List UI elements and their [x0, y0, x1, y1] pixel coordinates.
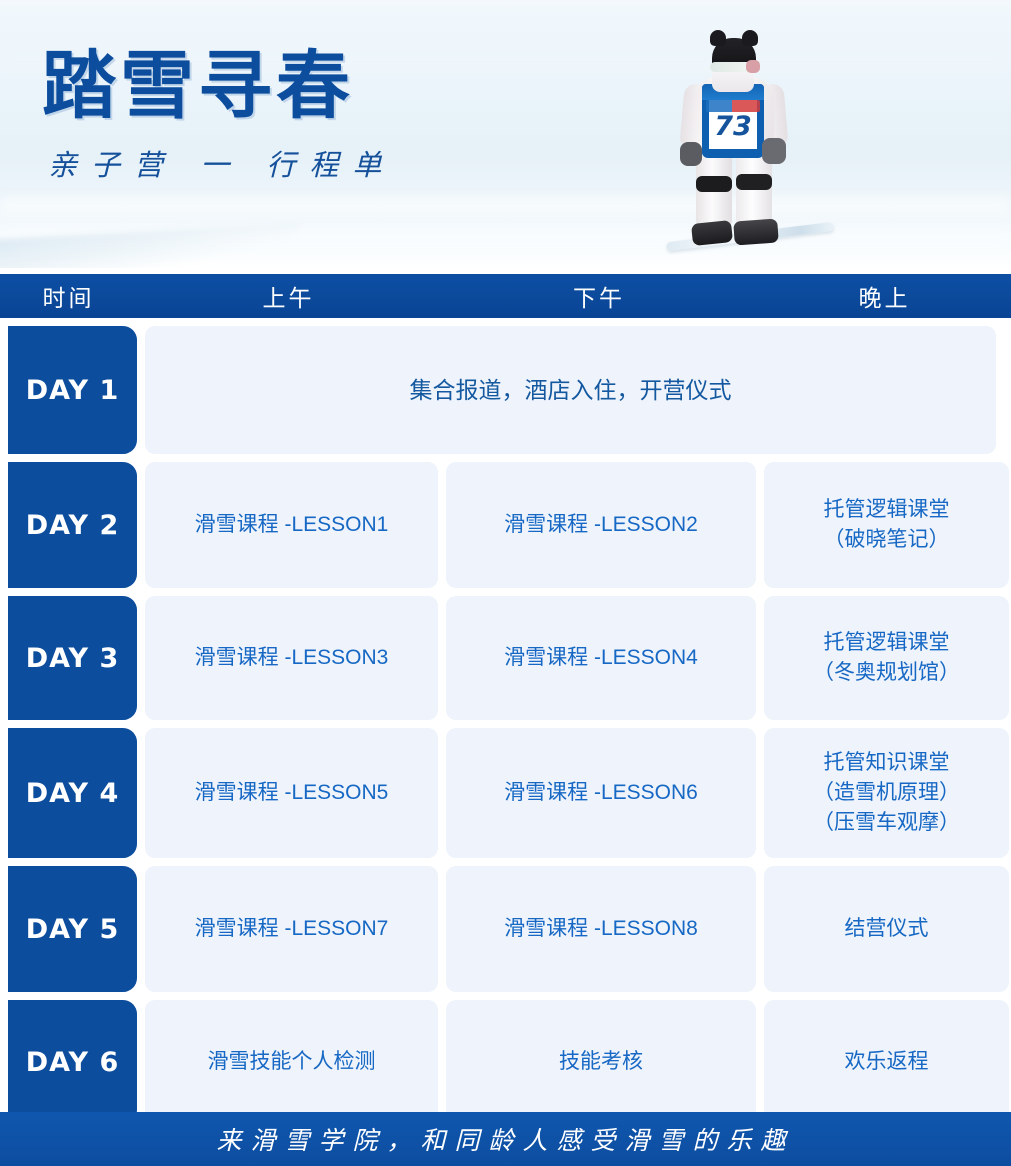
- table-row: DAY 3 滑雪课程 -LESSON3 滑雪课程 -LESSON4 托管逻辑课堂…: [8, 596, 1003, 720]
- column-header-evening: 晚上: [758, 279, 1011, 313]
- day-label: DAY 4: [8, 728, 137, 858]
- cell-afternoon: 技能考核: [446, 1000, 756, 1124]
- day-label: DAY 5: [8, 866, 137, 992]
- schedule-table-body: DAY 1 集合报道，酒店入住，开营仪式 DAY 2 滑雪课程 -LESSON1…: [0, 318, 1011, 1132]
- cell-afternoon: 滑雪课程 -LESSON4: [446, 596, 756, 720]
- table-row: DAY 2 滑雪课程 -LESSON1 滑雪课程 -LESSON2 托管逻辑课堂…: [8, 462, 1003, 588]
- hero-banner: 踏雪寻春 亲子营 一 行程单 73: [0, 0, 1011, 268]
- goggles-lens-shape: [746, 60, 760, 73]
- page-subtitle: 亲子营 一 行程单: [48, 148, 395, 182]
- day-label: DAY 3: [8, 596, 137, 720]
- cell-afternoon: 滑雪课程 -LESSON2: [446, 462, 756, 588]
- right-glove-shape: [762, 138, 786, 164]
- cell-evening: 结营仪式: [764, 866, 1009, 992]
- table-row: DAY 6 滑雪技能个人检测 技能考核 欢乐返程: [8, 1000, 1003, 1124]
- cell-afternoon: 滑雪课程 -LESSON6: [446, 728, 756, 858]
- cell-evening: 托管知识课堂（造雪机原理）（压雪车观摩）: [764, 728, 1009, 858]
- cell-morning: 滑雪课程 -LESSON5: [145, 728, 438, 858]
- beanie-left-ear-shape: [710, 30, 726, 46]
- snow-band-decoration: [0, 228, 1011, 244]
- hero-text-block: 踏雪寻春 亲子营 一 行程单: [42, 44, 395, 182]
- day-label: DAY 1: [8, 326, 137, 454]
- cell-morning: 滑雪课程 -LESSON1: [145, 462, 438, 588]
- cell-morning: 滑雪课程 -LESSON3: [145, 596, 438, 720]
- right-boot-shape: [733, 218, 779, 245]
- cell-morning: 滑雪技能个人检测: [145, 1000, 438, 1124]
- left-boot-shape: [691, 220, 733, 246]
- day-label: DAY 2: [8, 462, 137, 588]
- footer-slogan: 来滑雪学院，和同龄人感受滑雪的乐趣: [216, 1121, 794, 1157]
- itinerary-poster: 踏雪寻春 亲子营 一 行程单 73: [0, 0, 1011, 1166]
- day-label: DAY 6: [8, 1000, 137, 1124]
- cell-morning: 滑雪课程 -LESSON7: [145, 866, 438, 992]
- footer-banner: 来滑雪学院，和同龄人感受滑雪的乐趣: [0, 1112, 1011, 1166]
- right-knee-pad-shape: [736, 174, 772, 190]
- table-row: DAY 4 滑雪课程 -LESSON5 滑雪课程 -LESSON6 托管知识课堂…: [8, 728, 1003, 858]
- table-row: DAY 1 集合报道，酒店入住，开营仪式: [8, 326, 1003, 454]
- column-header-time: 时间: [0, 279, 137, 313]
- cell-evening: 托管逻辑课堂（冬奥规划馆）: [764, 596, 1009, 720]
- table-row: DAY 5 滑雪课程 -LESSON7 滑雪课程 -LESSON8 结营仪式: [8, 866, 1003, 992]
- cell-evening: 欢乐返程: [764, 1000, 1009, 1124]
- cell-afternoon: 滑雪课程 -LESSON8: [446, 866, 756, 992]
- left-glove-shape: [680, 142, 702, 166]
- cell-evening: 托管逻辑课堂（破晓笔记）: [764, 462, 1009, 588]
- snow-band-decoration: [0, 196, 1011, 216]
- child-snowboarder-photo: 73: [672, 18, 802, 254]
- column-header-afternoon: 下午: [440, 279, 758, 313]
- race-bib-number: 73: [702, 112, 764, 142]
- cell-merged-day1: 集合报道，酒店入住，开营仪式: [145, 326, 996, 454]
- column-header-morning: 上午: [137, 279, 440, 313]
- snow-ridge-decoration: [0, 223, 301, 268]
- left-knee-pad-shape: [696, 176, 732, 192]
- page-title: 踏雪寻春: [42, 44, 395, 128]
- beanie-right-ear-shape: [742, 30, 758, 46]
- table-column-header: 时间 上午 下午 晚上: [0, 274, 1011, 318]
